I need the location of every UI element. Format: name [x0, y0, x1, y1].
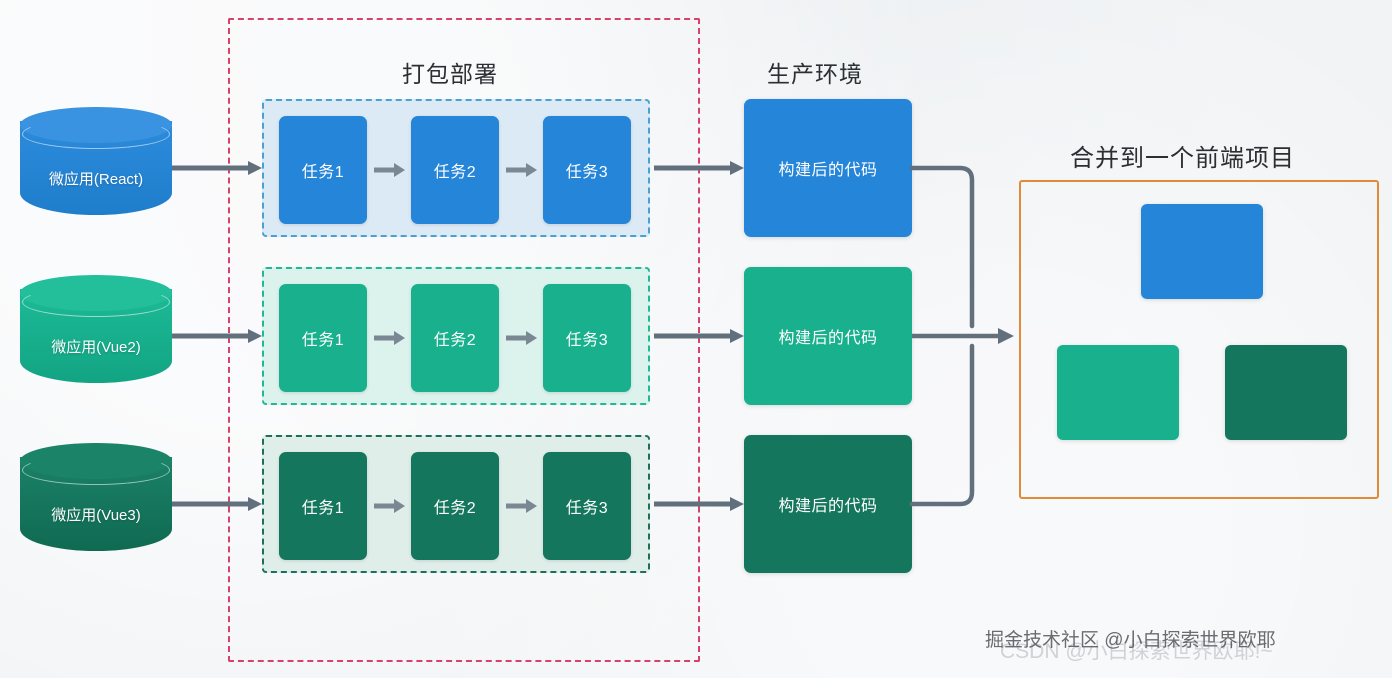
diagram-canvas: 打包部署 生产环境 合并到一个前端项目 微应用(React) 任务1 任务2 任…	[0, 0, 1392, 678]
build-output-box-react[interactable]: 构建后的代码	[744, 99, 912, 237]
task-label: 任务3	[566, 326, 608, 350]
task-connector-arrow	[504, 161, 540, 179]
arrow-app-to-pipeline-vue2	[172, 327, 264, 345]
task-box[interactable]: 任务2	[411, 116, 499, 224]
section-title-production: 生产环境	[767, 55, 863, 89]
task-connector-arrow	[372, 161, 408, 179]
merged-project-panel	[1019, 180, 1379, 499]
task-connector-arrow	[372, 329, 408, 347]
task-label: 任务1	[302, 326, 344, 350]
merged-tile-vue3[interactable]	[1225, 345, 1347, 440]
micro-app-cylinder-vue2: 微应用(Vue2)	[20, 275, 172, 397]
micro-app-label: 微应用(Vue3)	[20, 443, 172, 565]
task-box[interactable]: 任务3	[543, 452, 631, 560]
task-label: 任务2	[434, 494, 476, 518]
merged-tile-react[interactable]	[1141, 204, 1263, 299]
task-box[interactable]: 任务1	[279, 452, 367, 560]
task-label: 任务3	[566, 494, 608, 518]
micro-app-label: 微应用(Vue2)	[20, 275, 172, 397]
merged-tile-vue2[interactable]	[1057, 345, 1179, 440]
task-box[interactable]: 任务1	[279, 116, 367, 224]
pipeline-row-vue2: 任务1 任务2 任务3	[262, 267, 650, 405]
section-title-packaging: 打包部署	[402, 55, 498, 89]
task-box[interactable]: 任务2	[411, 452, 499, 560]
pipeline-row-vue3: 任务1 任务2 任务3	[262, 435, 650, 573]
pipeline-row-react: 任务1 任务2 任务3	[262, 99, 650, 237]
arrow-pipeline-to-build-react	[654, 159, 746, 177]
micro-app-label: 微应用(React)	[20, 107, 172, 229]
task-connector-arrow	[504, 497, 540, 515]
arrow-pipeline-to-build-vue3	[654, 495, 746, 513]
task-box[interactable]: 任务3	[543, 116, 631, 224]
juejin-watermark: 掘金技术社区 @小白探索世界欧耶	[985, 625, 1276, 652]
build-output-box-vue3[interactable]: 构建后的代码	[744, 435, 912, 573]
micro-app-cylinder-react: 微应用(React)	[20, 107, 172, 229]
task-box[interactable]: 任务2	[411, 284, 499, 392]
task-label: 任务3	[566, 158, 608, 182]
arrow-app-to-pipeline-react	[172, 159, 264, 177]
task-box[interactable]: 任务1	[279, 284, 367, 392]
arrow-app-to-pipeline-vue3	[172, 495, 264, 513]
arrow-pipeline-to-build-vue2	[654, 327, 746, 345]
task-connector-arrow	[372, 497, 408, 515]
section-title-merge: 合并到一个前端项目	[1070, 138, 1295, 173]
task-label: 任务1	[302, 158, 344, 182]
task-box[interactable]: 任务3	[543, 284, 631, 392]
task-label: 任务2	[434, 158, 476, 182]
build-output-label: 构建后的代码	[778, 492, 877, 516]
task-label: 任务2	[434, 326, 476, 350]
task-connector-arrow	[504, 329, 540, 347]
build-output-label: 构建后的代码	[778, 156, 877, 180]
arrow-merge-connector	[912, 160, 1022, 512]
micro-app-cylinder-vue3: 微应用(Vue3)	[20, 443, 172, 565]
build-output-label: 构建后的代码	[778, 324, 877, 348]
task-label: 任务1	[302, 494, 344, 518]
build-output-box-vue2[interactable]: 构建后的代码	[744, 267, 912, 405]
